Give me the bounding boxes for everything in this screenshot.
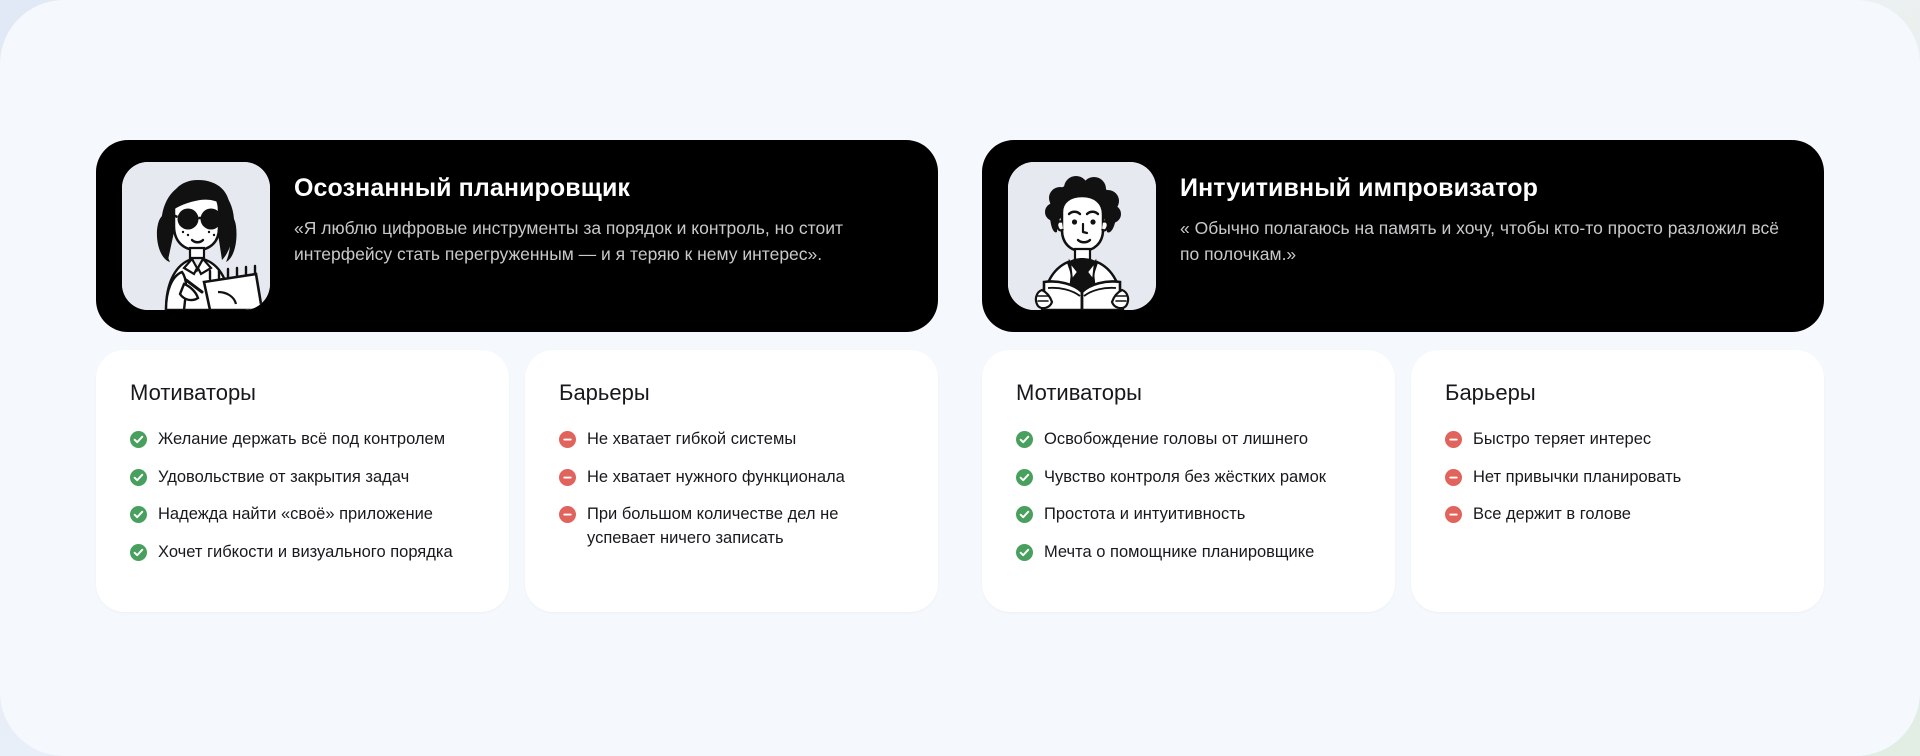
persona-title: Осознанный планировщик xyxy=(294,174,910,203)
page-root: Осознанный планировщик «Я люблю цифровые… xyxy=(0,0,1920,756)
check-circle-icon xyxy=(1016,544,1033,561)
list-item: Желание держать всё под контролем xyxy=(130,428,475,451)
list-item-label: Мечта о помощнике планировщике xyxy=(1044,541,1361,564)
persona-meta: Интуитивный импровизатор « Обычно полага… xyxy=(1180,162,1796,268)
persona-quote: «Я люблю цифровые инструменты за порядок… xyxy=(294,215,894,268)
barriers-panel: Барьеры Не хватает гибкой системы xyxy=(525,350,938,612)
persona-panel-row: Мотиваторы Желание держать всё под контр… xyxy=(96,350,938,612)
persona-column: Осознанный планировщик «Я люблю цифровые… xyxy=(96,140,938,612)
check-circle-icon xyxy=(130,469,147,486)
list-item-label: Удовольствие от закрытия задач xyxy=(158,466,475,489)
persona-header-card: Интуитивный импровизатор « Обычно полага… xyxy=(982,140,1824,332)
persona-board-canvas: Осознанный планировщик «Я люблю цифровые… xyxy=(0,0,1920,756)
check-circle-icon xyxy=(1016,469,1033,486)
list-item: Мечта о помощнике планировщике xyxy=(1016,541,1361,564)
check-circle-icon xyxy=(1016,431,1033,448)
persona-panel-row: Мотиваторы Освобождение головы от лишнег… xyxy=(982,350,1824,612)
list-item: Простота и интуитивность xyxy=(1016,503,1361,526)
motivators-list: Освобождение головы от лишнего Чувство к… xyxy=(1016,428,1361,564)
list-item-label: Желание держать всё под контролем xyxy=(158,428,475,451)
list-item-label: Простота и интуитивность xyxy=(1044,503,1361,526)
list-item-label: Быстро теряет интерес xyxy=(1473,428,1790,451)
minus-circle-icon xyxy=(559,431,576,448)
list-item: Не хватает нужного функционала xyxy=(559,466,904,489)
list-item: Не хватает гибкой системы xyxy=(559,428,904,451)
man-with-curly-hair-reading-book-illustration xyxy=(1008,162,1156,310)
list-item: Удовольствие от закрытия задач xyxy=(130,466,475,489)
list-item: Нет привычки планировать xyxy=(1445,466,1790,489)
motivators-list: Желание держать всё под контролем Удовол… xyxy=(130,428,475,564)
list-item-label: При большом количестве дел не успевает н… xyxy=(587,503,904,550)
panel-title: Барьеры xyxy=(559,380,904,406)
list-item-label: Не хватает нужного функционала xyxy=(587,466,904,489)
list-item-label: Чувство контроля без жёстких рамок xyxy=(1044,466,1361,489)
check-circle-icon xyxy=(1016,506,1033,523)
minus-circle-icon xyxy=(559,506,576,523)
panel-title: Мотиваторы xyxy=(1016,380,1361,406)
persona-quote: « Обычно полагаюсь на память и хочу, что… xyxy=(1180,215,1780,268)
minus-circle-icon xyxy=(1445,506,1462,523)
persona-meta: Осознанный планировщик «Я люблю цифровые… xyxy=(294,162,910,268)
list-item-label: Освобождение головы от лишнего xyxy=(1044,428,1361,451)
motivators-panel: Мотиваторы Желание держать всё под контр… xyxy=(96,350,509,612)
list-item-label: Нет привычки планировать xyxy=(1473,466,1790,489)
barriers-list: Не хватает гибкой системы Не хватает нуж… xyxy=(559,428,904,550)
check-circle-icon xyxy=(130,431,147,448)
barriers-panel: Барьеры Быстро теряет интерес xyxy=(1411,350,1824,612)
minus-circle-icon xyxy=(559,469,576,486)
persona-header-card: Осознанный планировщик «Я люблю цифровые… xyxy=(96,140,938,332)
list-item: Освобождение головы от лишнего xyxy=(1016,428,1361,451)
panel-title: Мотиваторы xyxy=(130,380,475,406)
barriers-list: Быстро теряет интерес Нет привычки плани… xyxy=(1445,428,1790,526)
list-item: Быстро теряет интерес xyxy=(1445,428,1790,451)
minus-circle-icon xyxy=(1445,431,1462,448)
check-circle-icon xyxy=(130,506,147,523)
list-item: Чувство контроля без жёстких рамок xyxy=(1016,466,1361,489)
persona-column: Интуитивный импровизатор « Обычно полага… xyxy=(982,140,1824,612)
list-item-label: Надежда найти «своё» приложение xyxy=(158,503,475,526)
minus-circle-icon xyxy=(1445,469,1462,486)
check-circle-icon xyxy=(130,544,147,561)
persona-grid: Осознанный планировщик «Я люблю цифровые… xyxy=(96,140,1824,612)
list-item: При большом количестве дел не успевает н… xyxy=(559,503,904,550)
list-item-label: Не хватает гибкой системы xyxy=(587,428,904,451)
panel-title: Барьеры xyxy=(1445,380,1790,406)
motivators-panel: Мотиваторы Освобождение головы от лишнег… xyxy=(982,350,1395,612)
persona-title: Интуитивный импровизатор xyxy=(1180,174,1796,203)
woman-with-glasses-and-notepad-illustration xyxy=(122,162,270,310)
list-item: Надежда найти «своё» приложение xyxy=(130,503,475,526)
list-item: Все держит в голове xyxy=(1445,503,1790,526)
list-item-label: Все держит в голове xyxy=(1473,503,1790,526)
list-item-label: Хочет гибкости и визуального порядка xyxy=(158,541,475,564)
list-item: Хочет гибкости и визуального порядка xyxy=(130,541,475,564)
